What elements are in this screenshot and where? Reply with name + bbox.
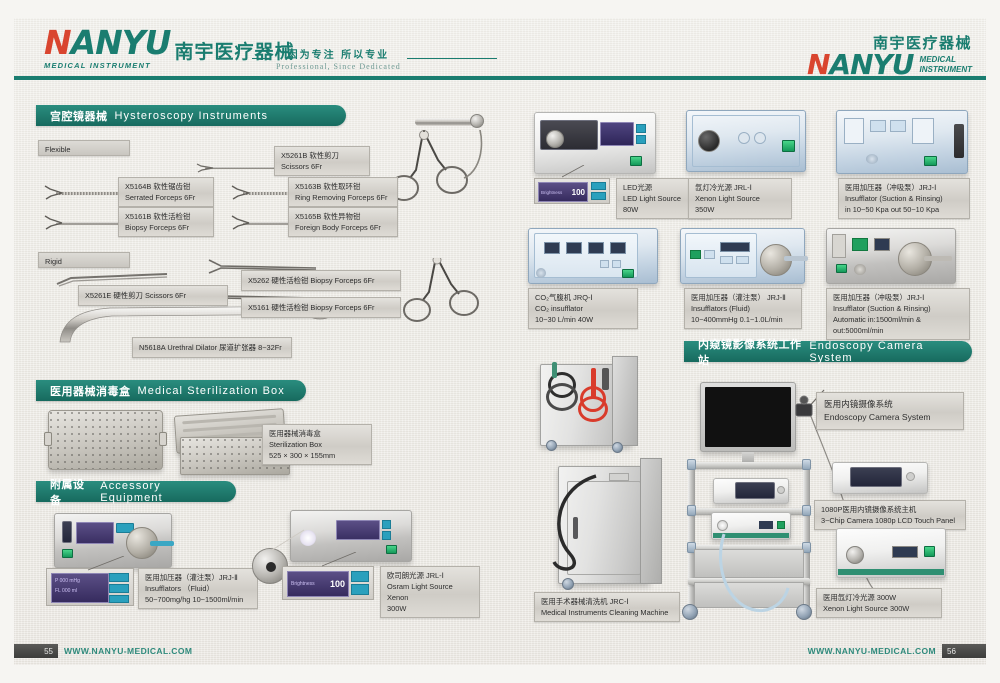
footer-right-page-text: 56 — [947, 647, 956, 656]
footer-page-number-right: 56 — [942, 644, 986, 658]
label-rigid: Rigid — [38, 252, 130, 268]
caption-insufflator-fluid-en: Insufflators （Fluid） — [145, 583, 251, 594]
product-cleaning-machine-bottom-side — [640, 458, 662, 584]
caption-ins-auto-spec: Automatic in:1500ml/min & out:5000ml/min — [833, 314, 963, 336]
leader-line-led — [560, 165, 586, 179]
caption-camera-host: 1080P医用内镜摄像系统主机 3~Chip Camera 1080p LCD … — [814, 500, 966, 530]
caption-osram-spec: 300W — [387, 603, 473, 614]
display-brightness-label: Brightness — [291, 581, 315, 587]
hose-coil-red-2 — [578, 396, 608, 422]
product-led-light-source — [534, 112, 656, 174]
caption-xenon-light: 氙灯冷光源 JRL-Ⅰ Xenon Light Source 350W — [688, 178, 792, 219]
logo-left-n: N — [44, 23, 71, 62]
display-line-pressure: P 000 mHg — [52, 574, 108, 588]
callout-display-led: Brightness 100 — [534, 178, 610, 204]
page-margin-top — [0, 0, 1000, 18]
caption-camera-system: 医用内镜摄像系统 Endoscopy Camera System — [816, 392, 964, 430]
caption-ins-suction-top-en: Insufflator (Suction & Rinsing) — [845, 193, 963, 204]
caption-ins-suction-top-cn: 医用加压器（冲吸泵）JRJ-Ⅰ — [845, 182, 963, 193]
handle-green — [552, 362, 557, 378]
section-banner-accessory: 附属设备 Accessory Equipment — [36, 481, 236, 502]
page-margin-bottom — [0, 665, 1000, 683]
banner-accessory-cn: 附属设备 — [50, 476, 93, 508]
product-insufflator-suction-top — [836, 110, 968, 174]
caption-x5165b-code: X5165B — [295, 212, 321, 221]
instrument-graphic-scope-body — [415, 118, 475, 126]
instrument-graphic-rigid-handle — [395, 258, 490, 333]
caption-x5163b: X5163B 软性取环钳 Ring Removing Forceps 6Fr — [288, 177, 398, 207]
caption-x5161: X5161 硬性活检钳 Biopsy Forceps 6Fr — [241, 297, 401, 318]
caption-x5261b: X5261B 软性剪刀 Scissors 6Fr — [274, 146, 370, 176]
caster-wheel-3 — [562, 578, 574, 590]
footer-url-left[interactable]: WWW.NANYU-MEDICAL.COM — [64, 644, 192, 658]
banner-camera-cn: 内窥镜影像系统工作站 — [698, 336, 802, 368]
trolley-joint-3 — [687, 505, 696, 516]
caption-xenon-spec: 350W — [695, 204, 785, 215]
jaw-icon-ring — [230, 185, 250, 201]
product-camera-host-unit — [832, 462, 928, 494]
tagline-rule-left — [252, 58, 270, 60]
caption-camera-en: Endoscopy Camera System — [824, 411, 956, 424]
caption-x5164b-en: Serrated Forceps 6Fr — [125, 192, 207, 203]
caption-sterilization-en: Sterilization Box — [269, 439, 365, 450]
product-insufflator-suction-auto — [826, 228, 956, 284]
caption-n5618a: N5618A Urethral Dilator 尿道扩张器 8~32Fr — [132, 337, 292, 358]
footer-left-page-text: 55 — [44, 647, 53, 656]
caption-x5163b-en: Ring Removing Forceps 6Fr — [295, 192, 391, 203]
caption-x5261b-cn: 软性剪刀 — [309, 151, 339, 160]
product-xenon-300w — [836, 528, 946, 578]
logo-left-anyu: ANYU — [71, 23, 171, 62]
caption-x5161b-cn: 软性活检钳 — [153, 212, 190, 221]
logo-right-sub-line2: INSTRUMENT — [920, 65, 972, 75]
caption-insufflator-fluid-spec: 50~700mg/hg 10~1500ml/min — [145, 594, 251, 605]
jaw-icon-scissors — [196, 160, 214, 174]
product-insufflator-fluid-right — [680, 228, 805, 284]
caption-co2-spec: 10~30 L/min 40W — [535, 314, 631, 325]
tagline-rule-right — [407, 58, 497, 60]
caption-x5262: X5262 硬性活检钳 Biopsy Forceps 6Fr — [241, 270, 401, 291]
caption-x5164b: X5164B 软性锯齿钳 Serrated Forceps 6Fr — [118, 177, 214, 207]
hose-black-bottom — [536, 470, 606, 580]
caption-ins-suction-top-spec: in 10~50 Kpa out 50~10 Kpa — [845, 204, 963, 215]
caption-x5161b-en: Biopsy Forceps 6Fr — [125, 222, 207, 233]
display-line-flow: FL 000 ml — [52, 588, 108, 594]
caption-camera-cn: 医用内镜摄像系统 — [824, 398, 956, 411]
caption-ins-auto-en: Insufflator (Suction & Rinsing) — [833, 303, 963, 314]
caption-co2-insufflator: CO₂气腹机 JRQ-Ⅰ CO₂ insufflator 10~30 L/min… — [528, 288, 638, 329]
spray-gun-icon — [602, 368, 609, 390]
caption-x5261b-en: Scissors 6Fr — [281, 161, 363, 172]
caption-x5261b-code: X5261B — [281, 151, 307, 160]
caption-n5618a-text: N5618A Urethral Dilator 尿道扩张器 8~32Fr — [139, 343, 282, 352]
caption-ins-fluid-cn: 医用加压器（灌注泵） JRJ-Ⅱ — [691, 292, 795, 303]
callout-display-light-source: Brightness 100 — [282, 566, 374, 600]
caption-xenon-cn: 氙灯冷光源 JRL-Ⅰ — [695, 182, 785, 193]
logo-left-wordmark: NANYU — [44, 26, 170, 59]
caption-insufflator-suction-auto: 医用加压器（冲吸泵）JRJ-Ⅰ Insufflator (Suction & R… — [826, 288, 970, 340]
tagline: 因为专注 所以专业 Professional, Since Dedicated — [252, 46, 497, 71]
caption-osram-light: 欧司朗光源 JRL-Ⅰ Osram Light Source Xenon 300… — [380, 566, 480, 618]
section-banner-camera-system: 内窥镜影像系统工作站 Endoscopy Camera System — [684, 341, 972, 362]
caption-x5161b: X5161B 软性活检钳 Biopsy Forceps 6Fr — [118, 207, 214, 237]
caption-co2-en: CO₂ insufflator — [535, 303, 631, 314]
tagline-english: Professional, Since Dedicated — [276, 62, 401, 71]
monitor-screen — [705, 387, 791, 447]
light-cable-coil — [718, 530, 808, 620]
caption-sterilization-cn: 医用器械消毒盒 — [269, 428, 365, 439]
page-margin-left — [0, 0, 14, 683]
caption-x5261e: X5261E 硬性剪刀 Scissors 6Fr — [78, 285, 228, 306]
logo-right-sub-line1: MEDICAL — [920, 55, 972, 65]
footer-right-url-text: WWW.NANYU-MEDICAL.COM — [808, 646, 936, 656]
instrument-graphic-scope-knob — [470, 114, 484, 128]
hose-red-vertical — [591, 368, 596, 398]
caption-x5164b-code: X5164B — [125, 182, 151, 191]
logo-left-subtitle: MEDICAL INSTRUMENT — [44, 61, 170, 70]
footer-left-url-text: WWW.NANYU-MEDICAL.COM — [64, 646, 192, 656]
trolley-joint-1 — [687, 459, 696, 470]
hose-coil-gray-2 — [546, 383, 578, 411]
light-beam-icon — [268, 528, 308, 554]
caption-x5165b: X5165B 软性异物钳 Foreign Body Forceps 6Fr — [288, 207, 398, 237]
logo-right-subtitle: MEDICAL INSTRUMENT — [920, 55, 972, 75]
caption-sterilization-size: 525 × 300 × 155mm — [269, 450, 365, 461]
caption-co2-cn: CO₂气腹机 JRQ-Ⅰ — [535, 292, 631, 303]
product-xenon-light-source — [686, 110, 806, 172]
caption-x5161-text: X5161 硬性活检钳 Biopsy Forceps 6Fr — [248, 303, 375, 312]
caption-x5165b-en: Foreign Body Forceps 6Fr — [295, 222, 391, 233]
trolley-caster-left — [682, 604, 698, 620]
caption-xenon300-en: Xenon Light Source 300W — [823, 603, 935, 614]
product-cleaning-machine-top-side — [612, 356, 638, 446]
caption-osram-en: Osram Light Source Xenon — [387, 581, 473, 603]
label-rigid-text: Rigid — [45, 257, 62, 266]
jaw-icon-foreign-body — [230, 215, 250, 231]
caption-osram-cn: 欧司朗光源 JRL-Ⅰ — [387, 570, 473, 581]
caption-x5163b-code: X5163B — [295, 182, 321, 191]
caption-cleaning-cn: 医用手术器械清洗机 JRC-Ⅰ — [541, 596, 673, 607]
caption-insufflator-fluid-cn: 医用加压器（灌注泵）JRJ-Ⅱ — [145, 572, 251, 583]
caption-xenon300-cn: 医用氙灯冷光源 300W — [823, 592, 935, 603]
caption-x5163b-cn: 软性取环钳 — [323, 182, 360, 191]
caption-insufflator-fluid-right: 医用加压器（灌注泵） JRJ-Ⅱ Insufflators (Fluid) 10… — [684, 288, 802, 329]
product-camera-control-unit — [713, 478, 789, 504]
caption-insufflator-fluid: 医用加压器（灌注泵）JRJ-Ⅱ Insufflators （Fluid） 50~… — [138, 568, 258, 609]
footer-url-right[interactable]: WWW.NANYU-MEDICAL.COM — [808, 644, 936, 658]
caption-sterilization-box: 医用器械消毒盒 Sterilization Box 525 × 300 × 15… — [262, 424, 372, 465]
jaw-icon-serrated — [43, 185, 63, 201]
caption-ins-fluid-en: Insufflators (Fluid) — [691, 303, 795, 314]
monitor-stand-neck — [742, 452, 754, 462]
leader-line-insufflator — [86, 556, 126, 572]
jaw-icon-biopsy — [43, 215, 63, 231]
label-flexible: Flexible — [38, 140, 130, 156]
banner-accessory-en: Accessory Equipment — [100, 480, 220, 504]
logo-right: 南宇医疗器械 NANYU MEDICAL INSTRUMENT — [807, 32, 972, 79]
display-led-value: 100 — [572, 188, 585, 197]
caption-host-cn: 1080P医用内镜摄像系统主机 — [821, 504, 959, 515]
caption-host-en: 3~Chip Camera 1080p LCD Touch Panel — [821, 515, 959, 526]
banner-camera-en: Endoscopy Camera System — [809, 340, 956, 364]
caption-x5165b-cn: 软性异物钳 — [323, 212, 360, 221]
caption-x5161b-code: X5161B — [125, 212, 151, 221]
footer-page-number-left: 55 — [14, 644, 58, 658]
display-led-label: Brightness — [541, 190, 562, 195]
header-divider-rule — [14, 76, 986, 80]
caption-insufflator-suction-top: 医用加压器（冲吸泵）JRJ-Ⅰ Insufflator (Suction & R… — [838, 178, 970, 219]
banner-sterilization-en: Medical Sterilization Box — [138, 385, 285, 397]
caption-x5164b-cn: 软性锯齿钳 — [153, 182, 190, 191]
caption-x5261e-text: X5261E 硬性剪刀 Scissors 6Fr — [85, 291, 186, 300]
caption-ins-auto-cn: 医用加压器（冲吸泵）JRJ-Ⅰ — [833, 292, 963, 303]
tagline-chinese: 因为专注 所以专业 — [288, 46, 389, 61]
page-margin-right — [986, 0, 1000, 683]
banner-hysteroscopy-cn: 宫腔镜器械 — [50, 108, 108, 124]
label-flexible-text: Flexible — [45, 145, 70, 154]
callout-display-insufflator: P 000 mHg FL 000 ml — [46, 568, 134, 606]
product-sterilization-box-closed — [48, 410, 163, 470]
banner-sterilization-cn: 医用器械消毒盒 — [50, 383, 131, 399]
caption-cleaning-en: Medical Instruments Cleaning Machine — [541, 607, 673, 618]
banner-hysteroscopy-en: Hysteroscopy Instruments — [115, 110, 269, 122]
caption-cleaning-machine: 医用手术器械清洗机 JRC-Ⅰ Medical Instruments Clea… — [534, 592, 680, 622]
section-banner-hysteroscopy: 宫腔镜器械 Hysteroscopy Instruments — [36, 105, 346, 126]
catalog-spread: NANYU MEDICAL INSTRUMENT 南宇医疗器械 因为专注 所以专… — [0, 0, 1000, 683]
leader-line-light-source — [320, 552, 358, 568]
caption-xenon-300w: 医用氙灯冷光源 300W Xenon Light Source 300W — [816, 588, 942, 618]
display-brightness-value: 100 — [330, 579, 345, 589]
logo-right-wordmark: NANYU — [807, 51, 914, 79]
caster-wheel-2 — [612, 442, 623, 453]
caption-xenon-en: Xenon Light Source — [695, 193, 785, 204]
caster-wheel-1 — [546, 440, 557, 451]
section-banner-sterilization: 医用器械消毒盒 Medical Sterilization Box — [36, 380, 306, 401]
caption-ins-fluid-spec: 10~400mmHg 0.1~1.0L/min — [691, 314, 795, 325]
caption-x5262-text: X5262 硬性活检钳 Biopsy Forceps 6Fr — [248, 276, 375, 285]
product-co2-insufflator — [528, 228, 658, 284]
